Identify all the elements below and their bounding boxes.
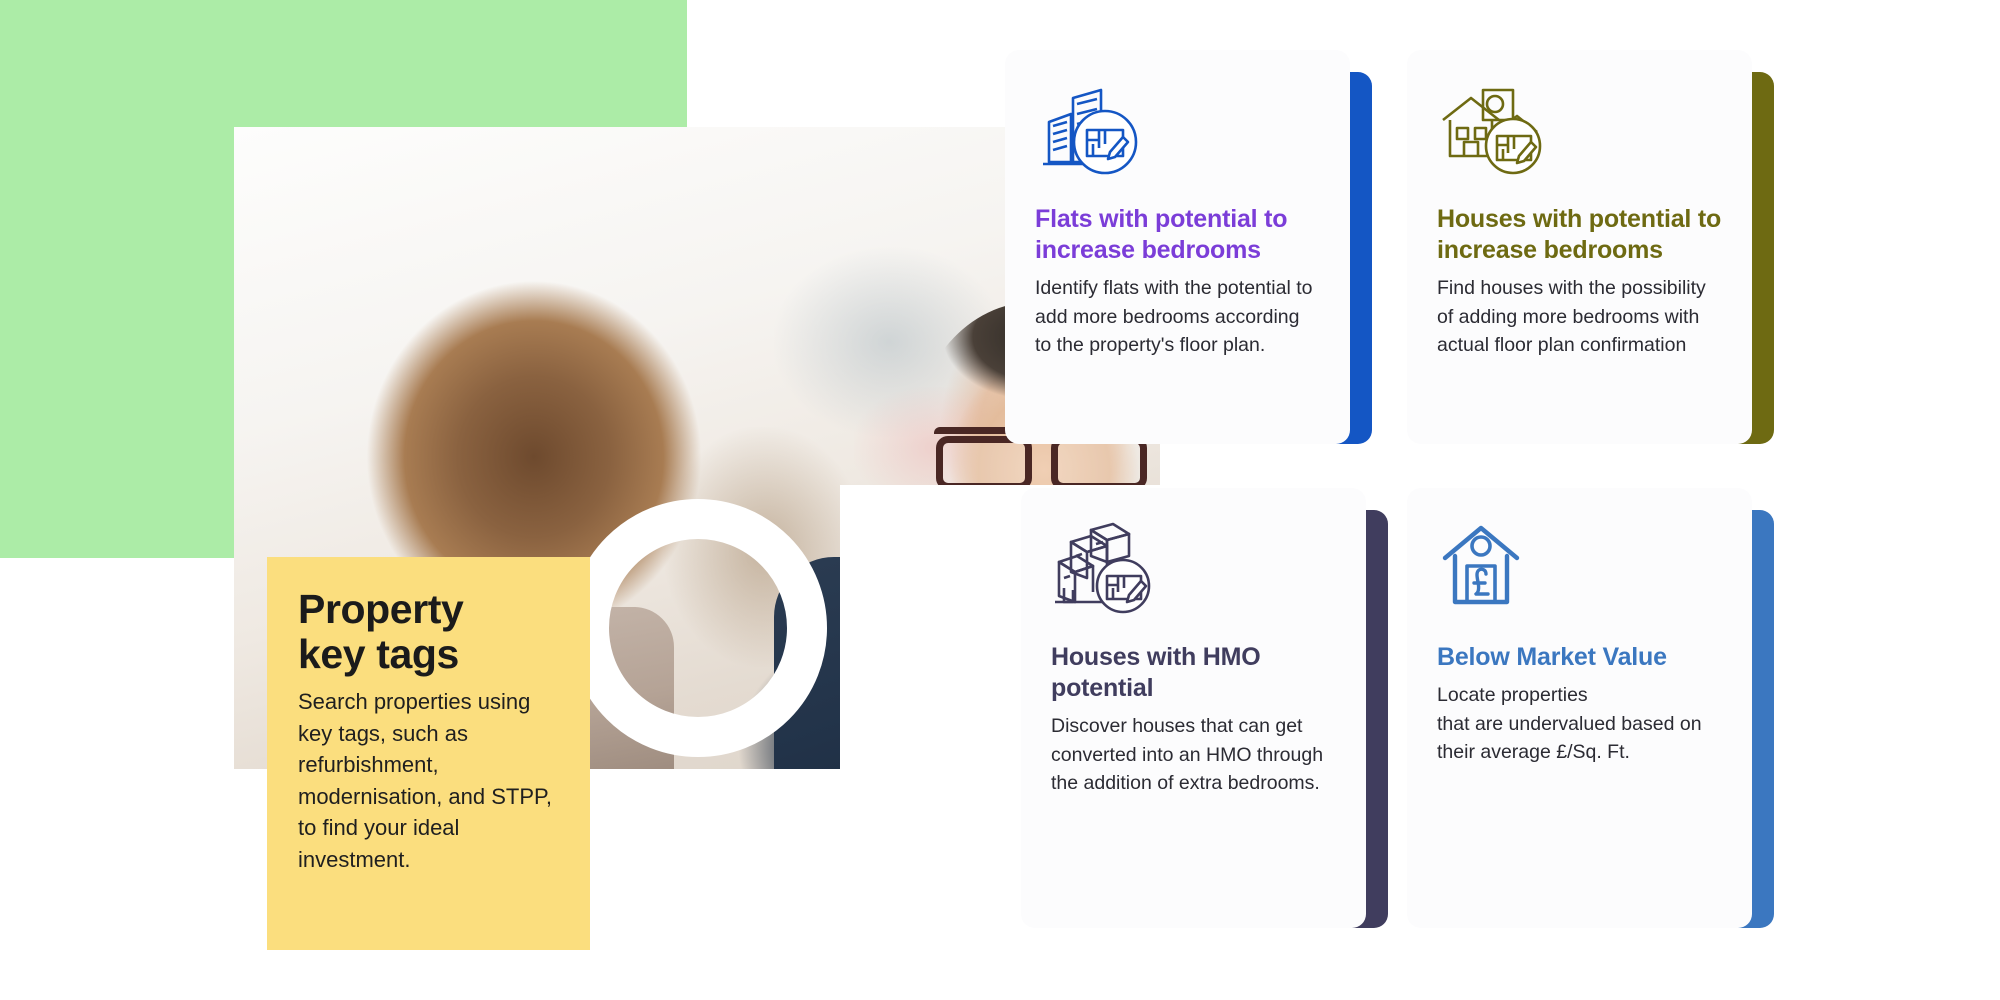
card-title: Flats with potential to increase bedroom… — [1035, 204, 1320, 266]
card-title: Houses with potential to increase bedroo… — [1437, 204, 1722, 266]
feature-card-flats[interactable]: Flats with potential to increase bedroom… — [1005, 50, 1372, 444]
card-body: Locate properties that are undervalued b… — [1437, 681, 1722, 767]
card-title: Below Market Value — [1437, 642, 1722, 673]
page-root: Propertykey tags Search properties using… — [0, 0, 2000, 1000]
key-tags-title-line2: key tags — [298, 631, 459, 677]
houses-cluster-floorplan-search-icon — [1051, 522, 1336, 626]
card-surface[interactable]: Below Market Value Locate properties tha… — [1407, 488, 1752, 928]
flats-floorplan-search-icon — [1035, 84, 1320, 188]
feature-card-hmo[interactable]: Houses with HMO potential Discover house… — [1021, 488, 1388, 928]
card-title: Houses with HMO potential — [1051, 642, 1336, 704]
card-surface[interactable]: Houses with HMO potential Discover house… — [1021, 488, 1366, 928]
house-floorplan-search-icon — [1437, 84, 1722, 188]
card-surface[interactable]: Houses with potential to increase bedroo… — [1407, 50, 1752, 444]
key-tags-title-line1: Property — [298, 586, 463, 632]
card-body: Discover houses that can get converted i… — [1051, 712, 1336, 798]
key-tags-title: Propertykey tags — [298, 587, 562, 677]
property-key-tags-panel: Propertykey tags Search properties using… — [267, 557, 590, 950]
photo-circle-ring — [569, 499, 827, 757]
house-pound-icon — [1437, 522, 1722, 626]
card-surface[interactable]: Flats with potential to increase bedroom… — [1005, 50, 1350, 444]
card-body: Identify flats with the potential to add… — [1035, 274, 1320, 360]
key-tags-body: Search properties using key tags, such a… — [298, 686, 562, 875]
feature-card-houses-bedrooms[interactable]: Houses with potential to increase bedroo… — [1407, 50, 1774, 444]
card-body: Find houses with the possibility of addi… — [1437, 274, 1722, 360]
feature-card-below-market-value[interactable]: Below Market Value Locate properties tha… — [1407, 488, 1774, 928]
